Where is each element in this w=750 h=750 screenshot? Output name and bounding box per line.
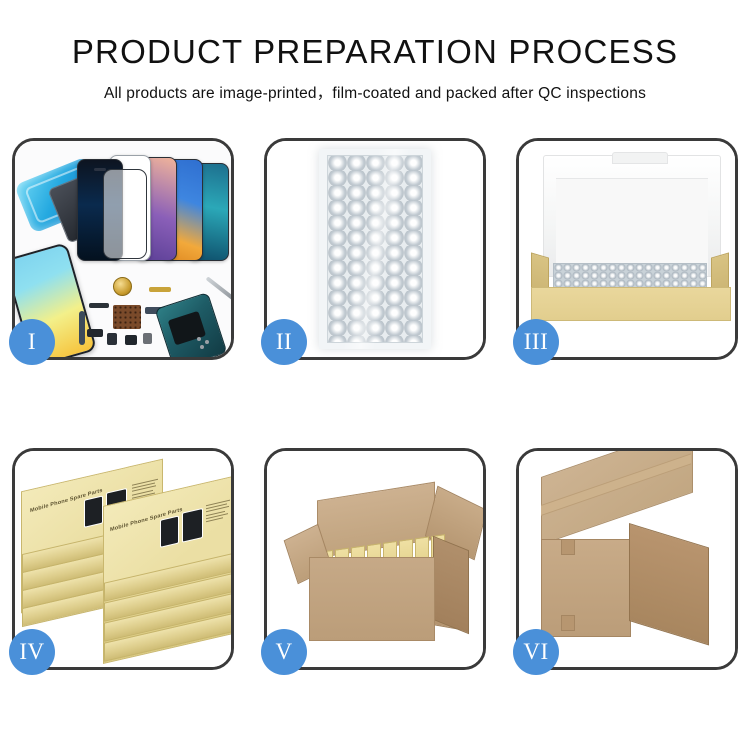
bubble-wrap-pouch: [319, 149, 431, 349]
step-badge-3: III: [513, 319, 559, 365]
connector-part-2: [107, 333, 117, 345]
carton-side-panel: [433, 536, 469, 635]
connector-part-1: [87, 329, 103, 337]
phone-screen-fan: [73, 153, 231, 261]
kraft-box-right-top: Mobile Phone Spare Parts: [103, 476, 231, 664]
kraft-tray: [531, 263, 729, 319]
process-step-panel-3[interactable]: III: [516, 138, 738, 360]
screws-group: [197, 337, 217, 349]
process-step-panel-4[interactable]: Mobile Phone Spare Parts: [12, 448, 234, 670]
carton-front-panel: [309, 557, 435, 641]
step-badge-4: IV: [9, 629, 55, 675]
white-box-lid: [543, 155, 721, 277]
box-art-screen-2: [182, 508, 203, 543]
process-step-panel-1[interactable]: I: [12, 138, 234, 360]
step-badge-2: II: [261, 319, 307, 365]
box-art-screen-1: [160, 515, 179, 547]
tray-front-panel: [531, 287, 731, 321]
flex-cable-1: [79, 311, 85, 345]
carton-side-panel: [629, 523, 709, 645]
chip-array: [113, 305, 141, 329]
carton-front-panel: [541, 539, 631, 637]
step-badge-5: V: [261, 629, 307, 675]
plastic-sheen: [319, 149, 431, 349]
sealed-shipping-carton: [541, 477, 721, 647]
process-step-grid: I II III: [12, 138, 738, 670]
carton-seam-top: [561, 539, 575, 555]
speaker-module-icon: [113, 277, 132, 296]
flex-cable-2: [89, 303, 109, 308]
page-subtitle: All products are image-printed，film-coat…: [0, 81, 750, 103]
page-title: PRODUCT PREPARATION PROCESS: [0, 34, 750, 70]
open-shipping-carton: [287, 485, 469, 645]
tempered-glass-sheet: [103, 169, 147, 259]
small-components-cluster: [77, 281, 227, 357]
page-header: PRODUCT PREPARATION PROCESS All products…: [0, 0, 750, 103]
process-step-panel-5[interactable]: V: [264, 448, 486, 670]
process-step-panel-6[interactable]: VI: [516, 448, 738, 670]
connector-part-4: [143, 333, 152, 344]
connector-part-3: [125, 335, 137, 345]
step-badge-6: VI: [513, 629, 559, 675]
step-badge-1: I: [9, 319, 55, 365]
box-spec-lines: [206, 500, 230, 525]
flex-cable-3: [149, 287, 171, 292]
box-art-screen-1: [84, 495, 103, 527]
carton-seam-bottom: [561, 615, 575, 631]
process-step-panel-2[interactable]: II: [264, 138, 486, 360]
